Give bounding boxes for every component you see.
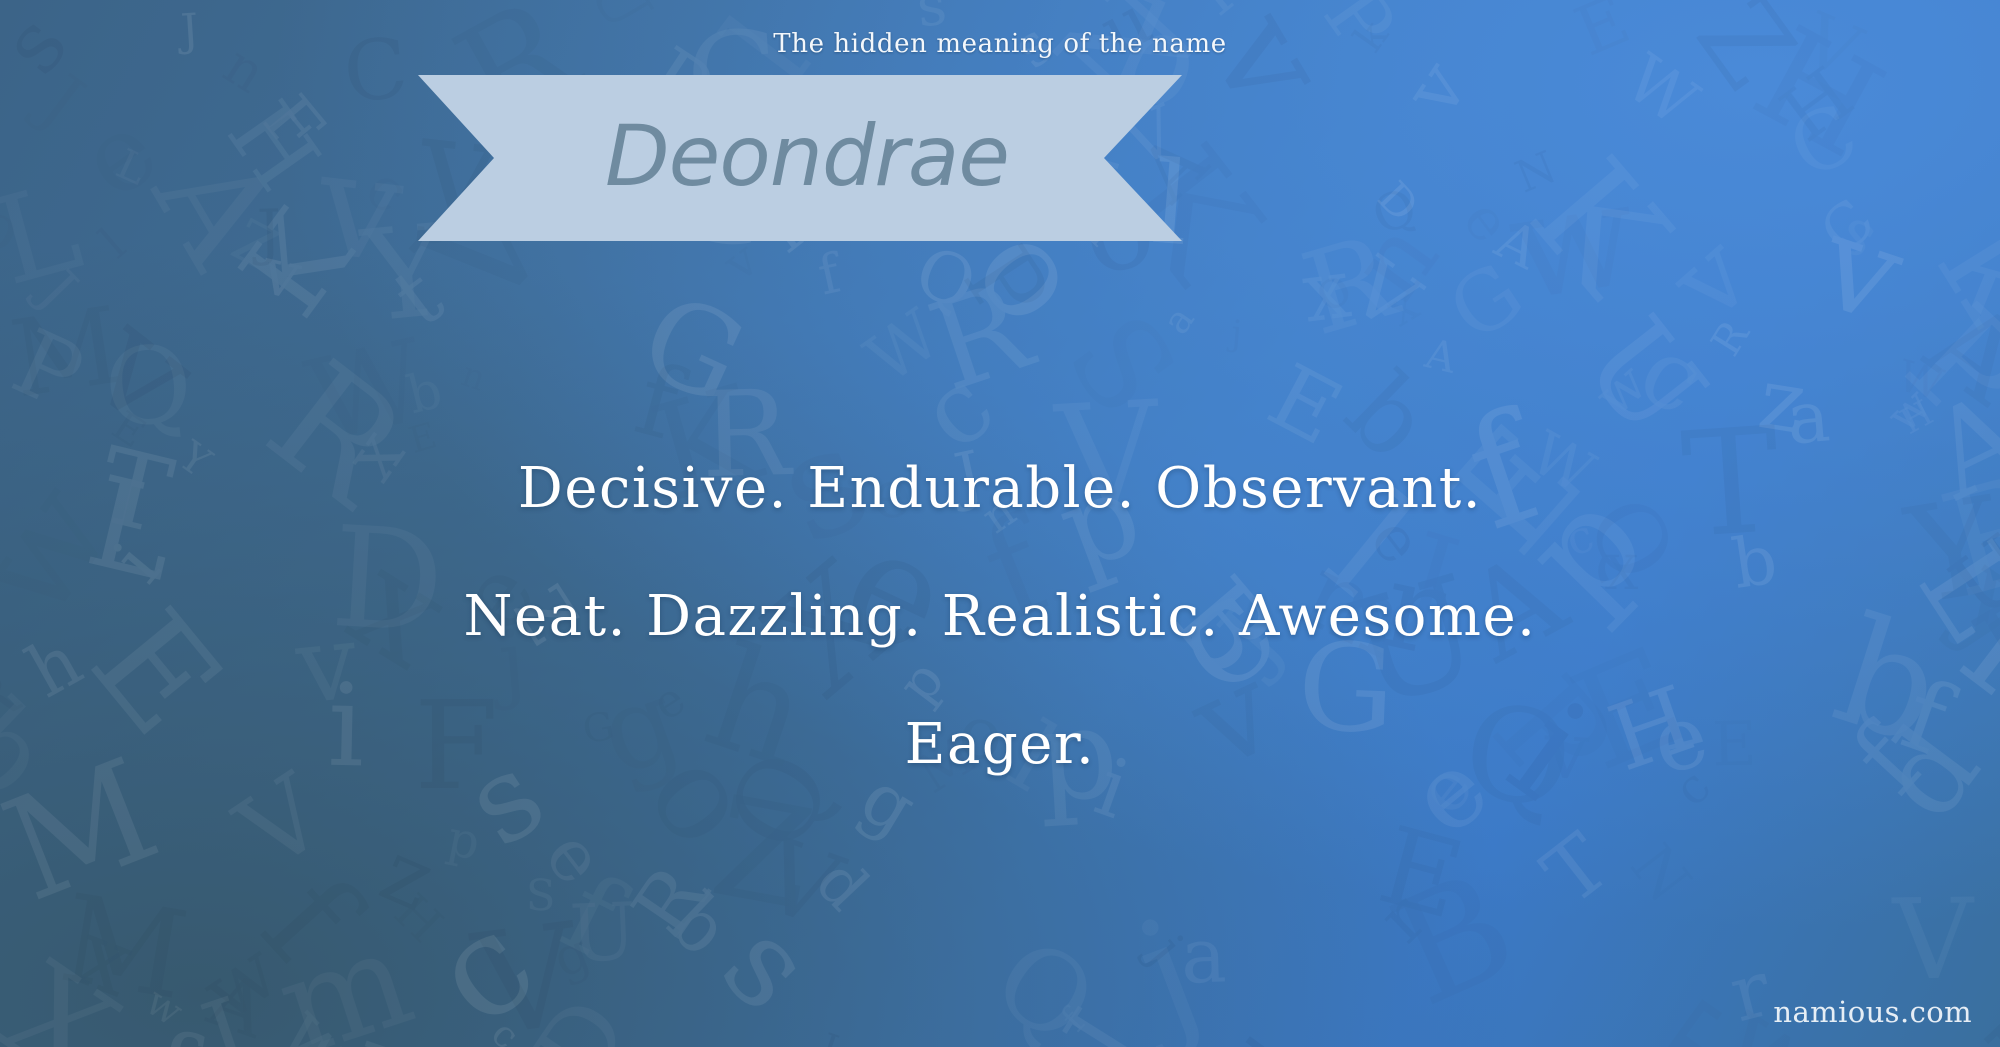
name-text: Deondrae bbox=[591, 114, 1009, 198]
ribbon-shape: Deondrae bbox=[418, 75, 1182, 241]
name-ribbon: Deondrae bbox=[418, 75, 1182, 241]
trait-line: Eager. bbox=[120, 681, 1880, 809]
trait-line: Neat. Dazzling. Realistic. Awesome. bbox=[120, 553, 1880, 681]
site-watermark: namious.com bbox=[1773, 995, 1972, 1029]
trait-list: Decisive. Endurable. Observant. Neat. Da… bbox=[0, 425, 2000, 809]
name-meaning-poster: WcGPCPPGnGLezNKTLMHATEVHnYsdceovfRBeKopa… bbox=[0, 0, 2000, 1047]
trait-line: Decisive. Endurable. Observant. bbox=[120, 425, 1880, 553]
page-title: The hidden meaning of the name bbox=[0, 29, 2000, 59]
